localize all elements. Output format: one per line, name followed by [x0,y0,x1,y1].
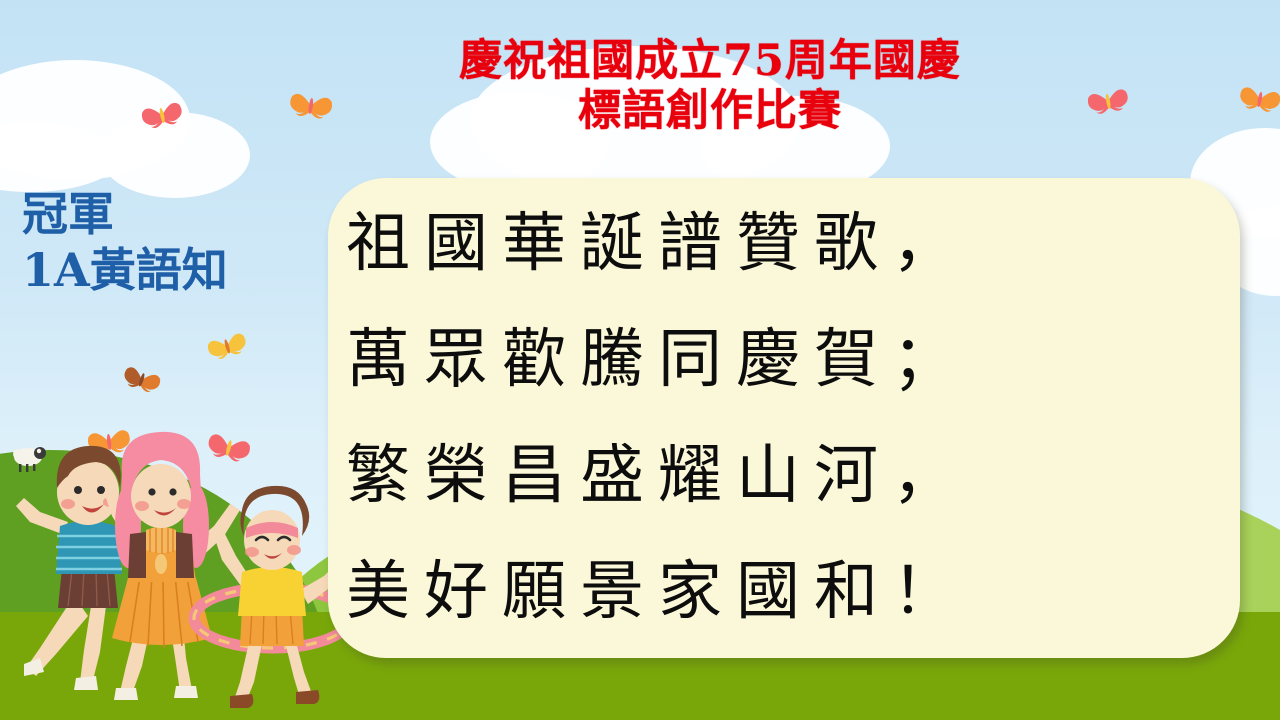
award-winner: 1A黃語知 [22,242,228,298]
butterfly-brown-left-icon [118,359,165,400]
award-label: 冠軍 1A黃語知 [22,186,228,298]
butterfly-pink-right-icon [1083,80,1132,120]
poster-canvas: 慶祝祖國成立75周年國慶 標語創作比賽 冠軍 1A黃語知 祖國華誕譜贊歌， 萬眾… [0,0,1280,720]
butterfly-yellow-mid-icon [203,325,252,366]
butterfly-orange-top-icon [286,85,336,125]
butterfly-orange-edge-icon [1235,78,1280,118]
poster-title: 慶祝祖國成立75周年國慶 標語創作比賽 [330,36,1090,136]
award-rank: 冠軍 [22,186,228,242]
title-line-1: 慶祝祖國成立75周年國慶 [330,36,1090,86]
slogan-line-1: 祖國華誕譜贊歌， [346,186,1234,302]
slogan-line-3: 繁榮昌盛耀山河， [346,418,1234,534]
title-line-2: 標語創作比賽 [330,86,1090,136]
children-playing-illustration [0,400,360,720]
child-girl-pink [104,432,240,700]
slogan-card: 祖國華誕譜贊歌， 萬眾歡騰同慶賀； 繁榮昌盛耀山河， 美好願景家國和！ [328,178,1240,658]
slogan-line-2: 萬眾歡騰同慶賀； [346,302,1234,418]
slogan-line-4: 美好願景家國和！ [346,534,1234,650]
